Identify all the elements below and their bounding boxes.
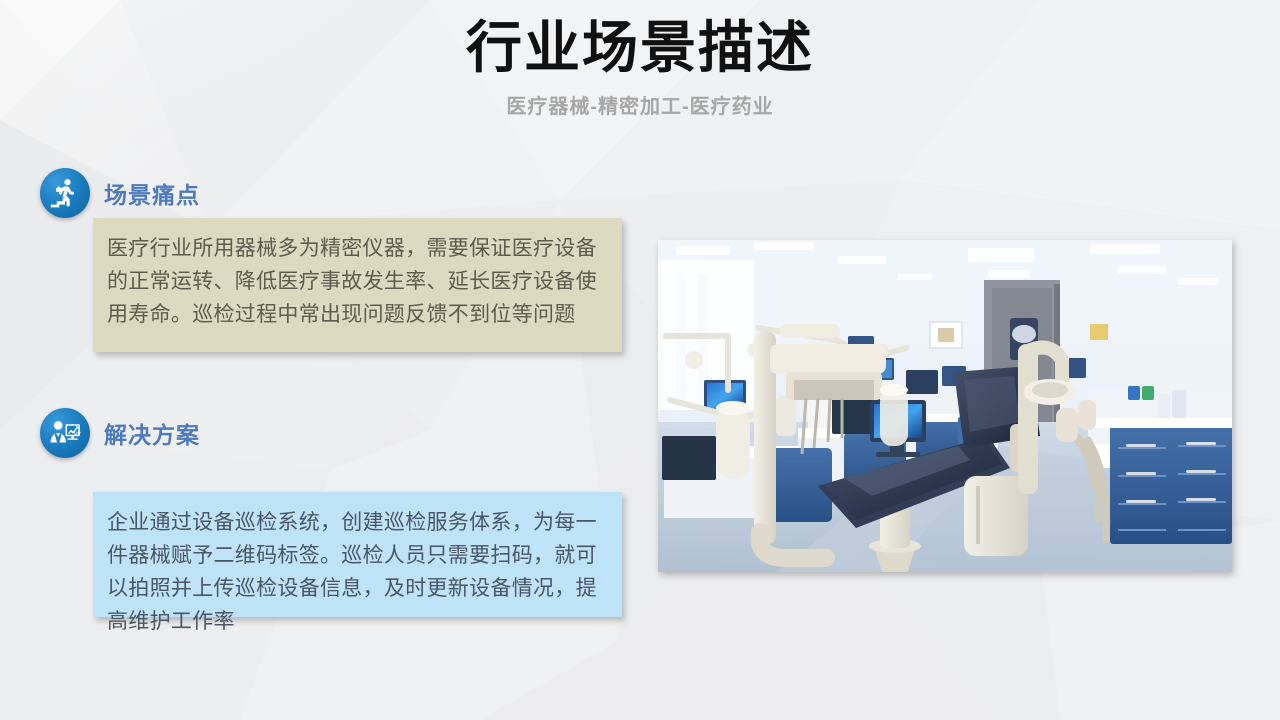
section-solution-title: 解决方案 — [104, 416, 200, 450]
page-title: 行业场景描述 — [0, 0, 1280, 80]
page-subtitle: 医疗器械-精密加工-医疗药业 — [0, 80, 1280, 119]
slide-canvas: 行业场景描述 医疗器械-精密加工-医疗药业 场景痛点 — [0, 0, 1280, 720]
presentation-person-chart-icon: UP — [40, 408, 90, 458]
section-pain-point-title: 场景痛点 — [104, 176, 200, 210]
solution-text-box: 企业通过设备巡检系统，创建巡检服务体系，为每一件器械赋予二维码标签。巡检人员只需… — [93, 492, 622, 617]
section-solution: UP 解决方案 — [0, 408, 640, 458]
svg-text:UP: UP — [74, 431, 80, 436]
slide-header: 行业场景描述 医疗器械-精密加工-医疗药业 — [0, 0, 1280, 119]
pain-point-text-box: 医疗行业所用器械多为精密仪器，需要保证医疗设备的正常运转、降低医疗事故发生率、延… — [93, 218, 622, 352]
stairs-climb-person-icon — [40, 168, 90, 218]
section-pain-point: 场景痛点 — [0, 168, 640, 218]
section-pain-point-header: 场景痛点 — [0, 168, 640, 218]
medical-clinic-photo — [658, 240, 1232, 572]
section-solution-header: UP 解决方案 — [0, 408, 640, 458]
